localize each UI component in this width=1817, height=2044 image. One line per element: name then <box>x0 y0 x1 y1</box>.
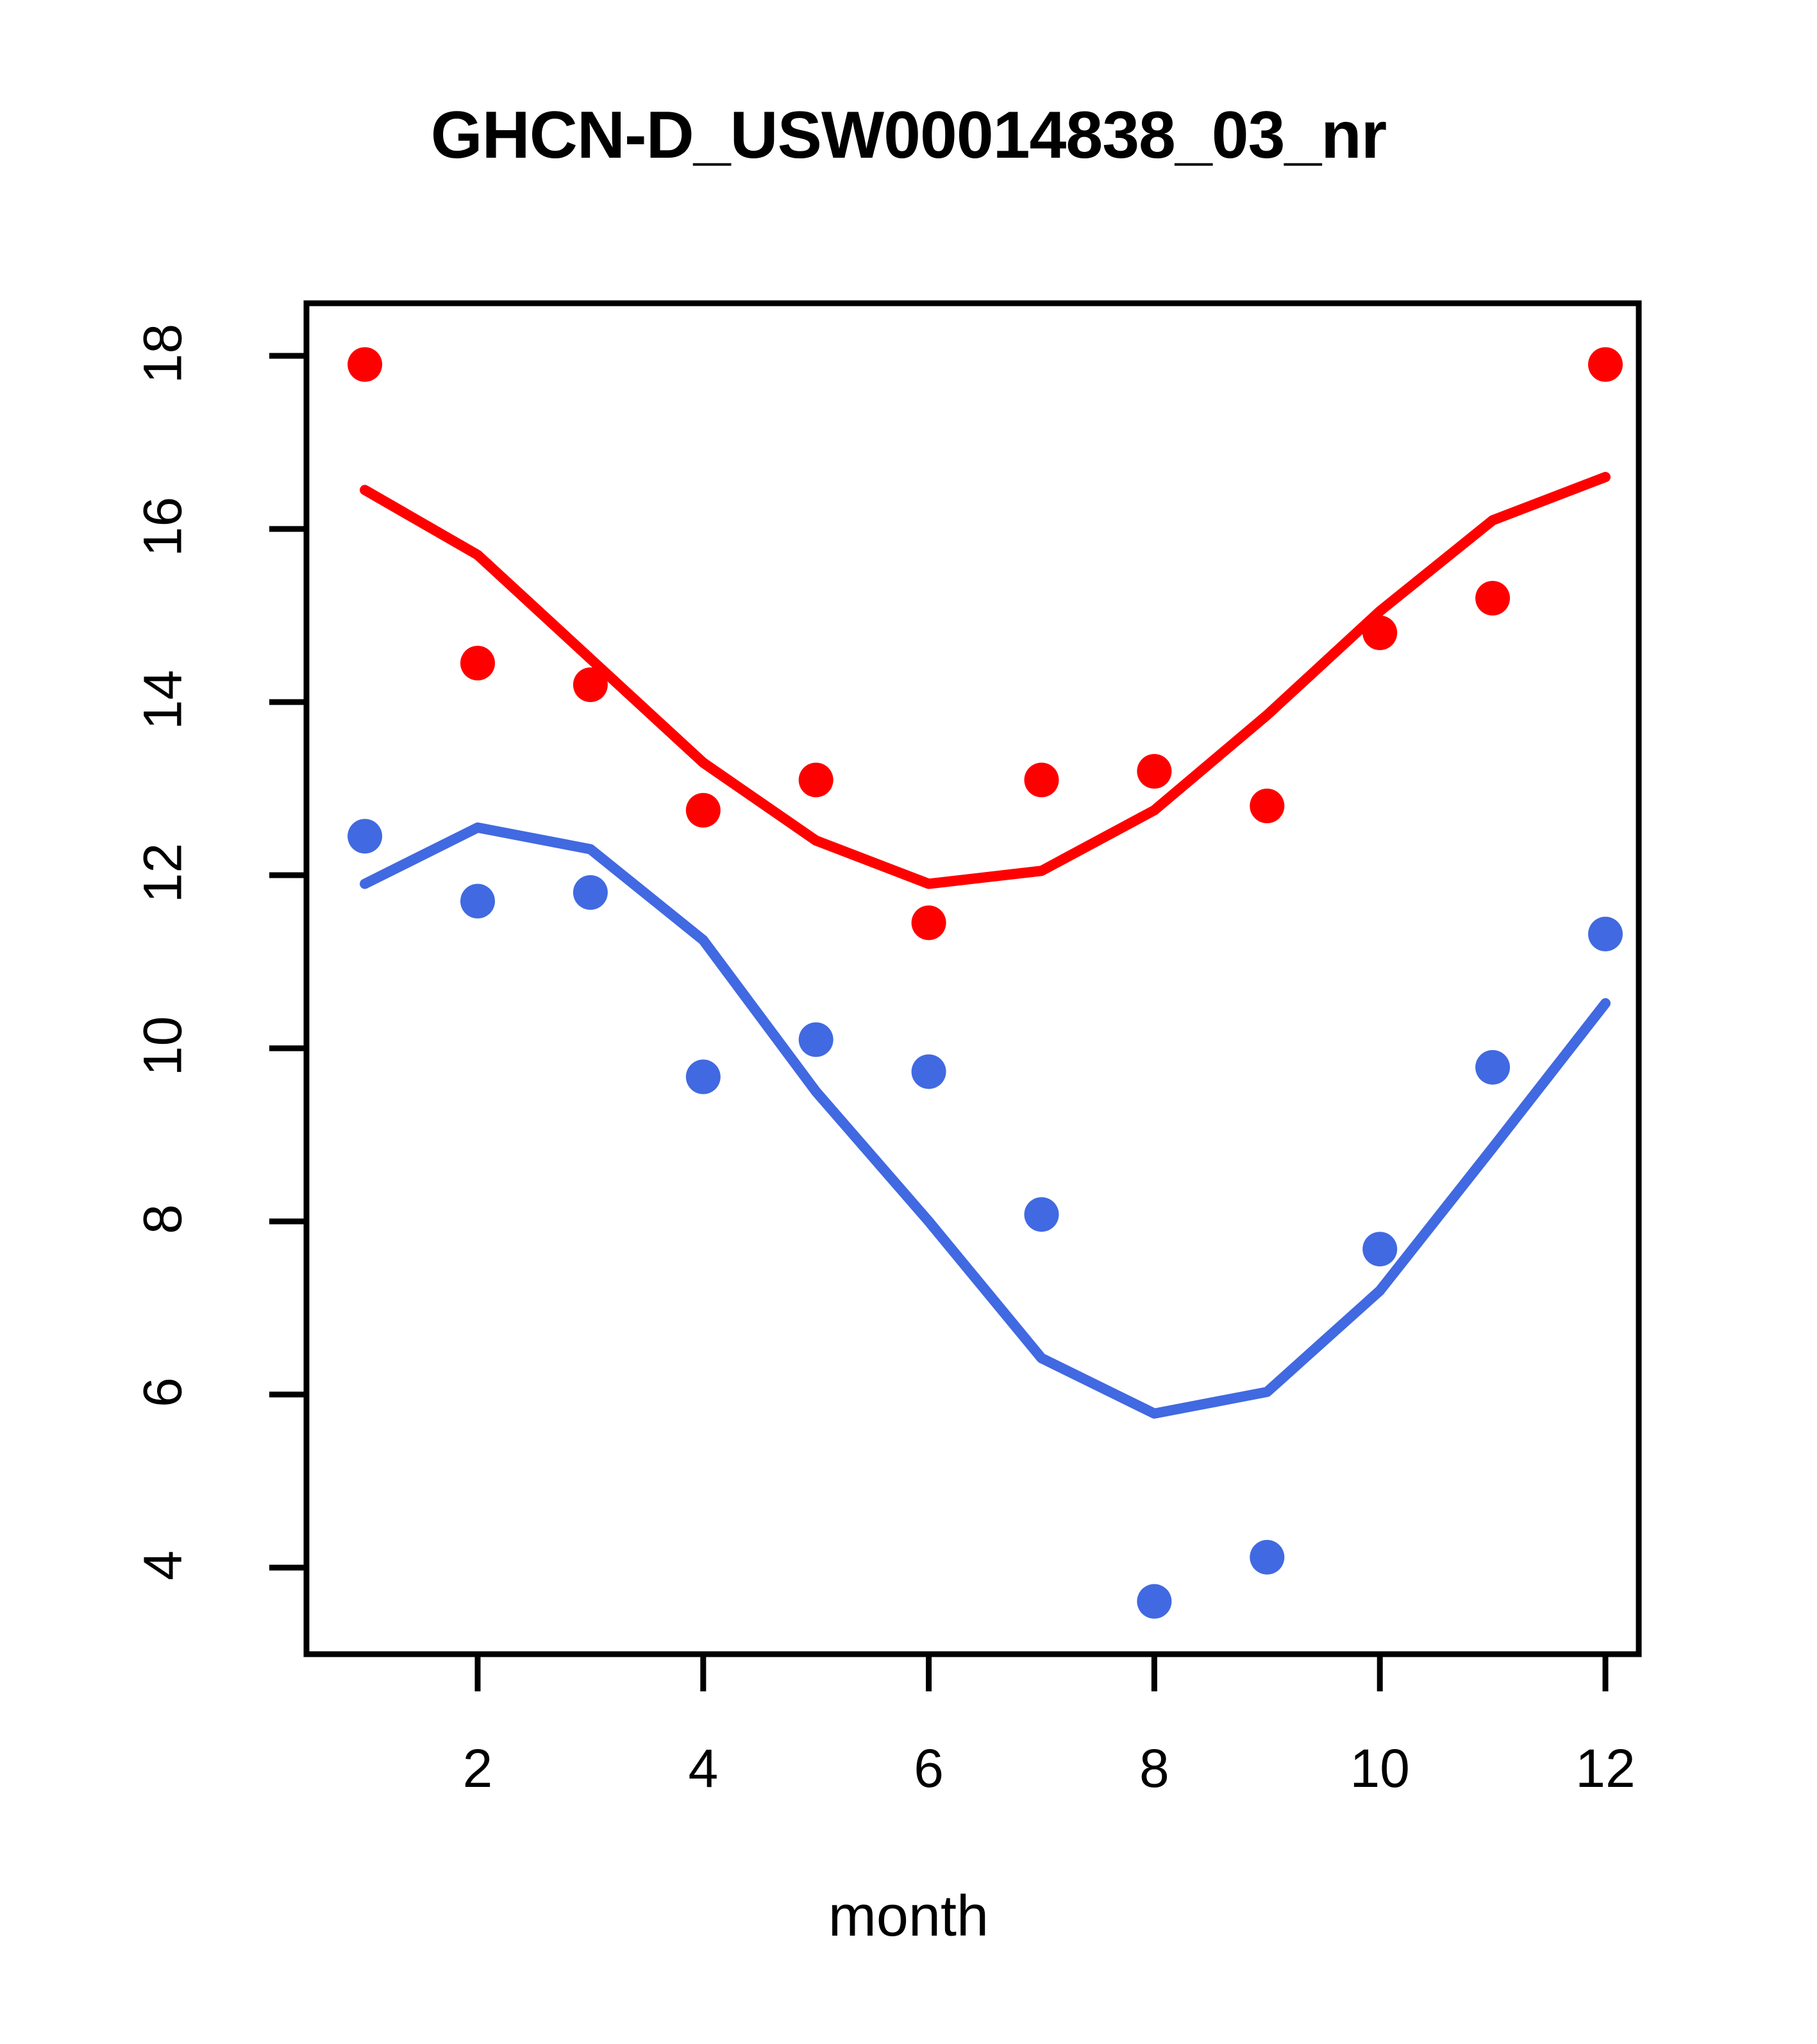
y-tick-label: 10 <box>132 976 194 1117</box>
data-point <box>686 793 721 828</box>
y-tick-label: 14 <box>132 630 194 771</box>
x-tick-label: 4 <box>607 1738 800 1800</box>
axes <box>269 303 1639 1691</box>
data-point <box>1250 789 1284 823</box>
series-line-red-line <box>365 477 1605 884</box>
data-point <box>1588 917 1623 951</box>
x-tick-label: 6 <box>833 1738 1025 1800</box>
data-point <box>799 763 833 798</box>
data-point <box>460 884 495 919</box>
data-point <box>1250 1540 1284 1575</box>
data-point <box>1025 763 1059 798</box>
data-point <box>1362 1232 1397 1266</box>
y-tick-label: 6 <box>132 1322 194 1463</box>
data-point <box>799 1023 833 1057</box>
series-points-red-points <box>347 348 1623 941</box>
data-point <box>1475 1050 1510 1085</box>
data-point <box>1475 581 1510 616</box>
x-tick-label: 10 <box>1284 1738 1476 1800</box>
x-axis-ticks <box>478 1654 1605 1691</box>
data-point <box>1588 348 1623 382</box>
series-line-blue-line <box>365 828 1605 1414</box>
y-tick-label: 18 <box>132 283 194 424</box>
data-series-group <box>347 348 1623 1619</box>
y-tick-label: 16 <box>132 457 194 598</box>
y-tick-label: 4 <box>132 1495 194 1636</box>
x-axis-label: month <box>0 1884 1817 1950</box>
y-axis-ticks <box>269 356 306 1568</box>
chart-figure: GHCN-D_USW00014838_03_nr 4681012141618 2… <box>0 0 1817 2044</box>
data-point <box>347 348 382 382</box>
y-tick-label: 8 <box>132 1149 194 1290</box>
data-point <box>347 819 382 853</box>
data-point <box>686 1060 721 1094</box>
data-point <box>460 646 495 680</box>
data-point <box>1137 754 1171 789</box>
y-tick-label: 12 <box>132 803 194 944</box>
data-point <box>912 1054 946 1089</box>
x-tick-label: 8 <box>1058 1738 1250 1800</box>
data-point <box>573 875 608 910</box>
x-tick-label: 2 <box>381 1738 574 1800</box>
data-point <box>1137 1584 1171 1619</box>
data-point <box>1025 1197 1059 1232</box>
data-point <box>912 905 946 940</box>
x-tick-label: 12 <box>1509 1738 1702 1800</box>
plot-frame <box>306 303 1639 1654</box>
